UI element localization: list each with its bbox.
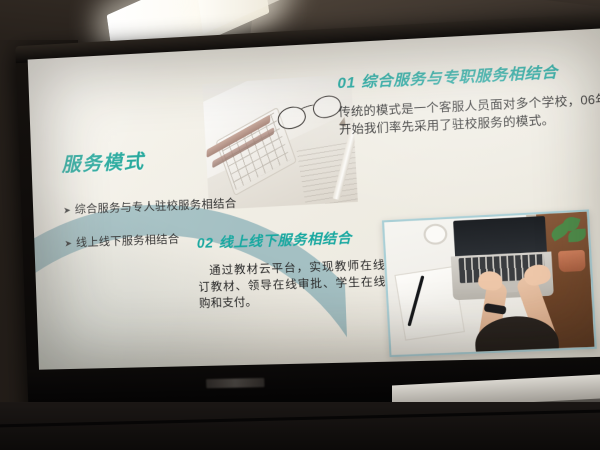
arrow-bullet-icon: ➤ — [63, 203, 71, 217]
plant-pot-icon — [558, 250, 586, 272]
presentation-slide: 服务模式 ➤ 综合服务与专人驻校服务相结合 ➤ 线上线下服务相结合 — [28, 28, 600, 372]
bullet-label: 综合服务与专人驻校服务相结合 — [75, 197, 237, 217]
desk-cabinet — [0, 402, 600, 450]
slide-section-02: 02线上线下服务相结合 通过教材云平台，实现教师在线选订教材、领导在线审批、学生… — [196, 227, 399, 313]
section-01-body: 传统的模式是一个客服人员面对多个学校，06年开始我们率先采用了驻校服务的模式。 — [338, 92, 600, 140]
section-01-number: 01 — [337, 75, 356, 92]
slide-section-01: 01综合服务与专职服务相结合 传统的模式是一个客服人员面对多个学校，06年开始我… — [337, 58, 600, 140]
section-02-body: 通过教材云平台，实现教师在线选订教材、领导在线审批、学生在线选购和支付。 — [198, 257, 400, 312]
list-item: ➤ 综合服务与专人驻校服务相结合 — [63, 195, 263, 217]
section-01-title: 综合服务与专职服务相结合 — [361, 65, 558, 92]
bullet-label: 线上线下服务相结合 — [76, 232, 180, 250]
wall-display[interactable]: 服务模式 ➤ 综合服务与专人驻校服务相结合 ➤ 线上线下服务相结合 — [15, 12, 600, 418]
section-02-title: 线上线下服务相结合 — [218, 230, 352, 250]
person-laptop-overhead-photo — [382, 209, 597, 357]
section-02-number: 02 — [197, 235, 214, 251]
photo-scene: 服务模式 ➤ 综合服务与专人驻校服务相结合 ➤ 线上线下服务相结合 — [0, 0, 600, 450]
display-brand-logo — [206, 378, 265, 388]
section-01-heading: 01综合服务与专职服务相结合 — [337, 58, 600, 97]
arrow-bullet-icon: ➤ — [64, 236, 72, 250]
display-screen: 服务模式 ➤ 综合服务与专人驻校服务相结合 ➤ 线上线下服务相结合 — [28, 28, 600, 372]
slide-title: 服务模式 — [61, 141, 262, 177]
